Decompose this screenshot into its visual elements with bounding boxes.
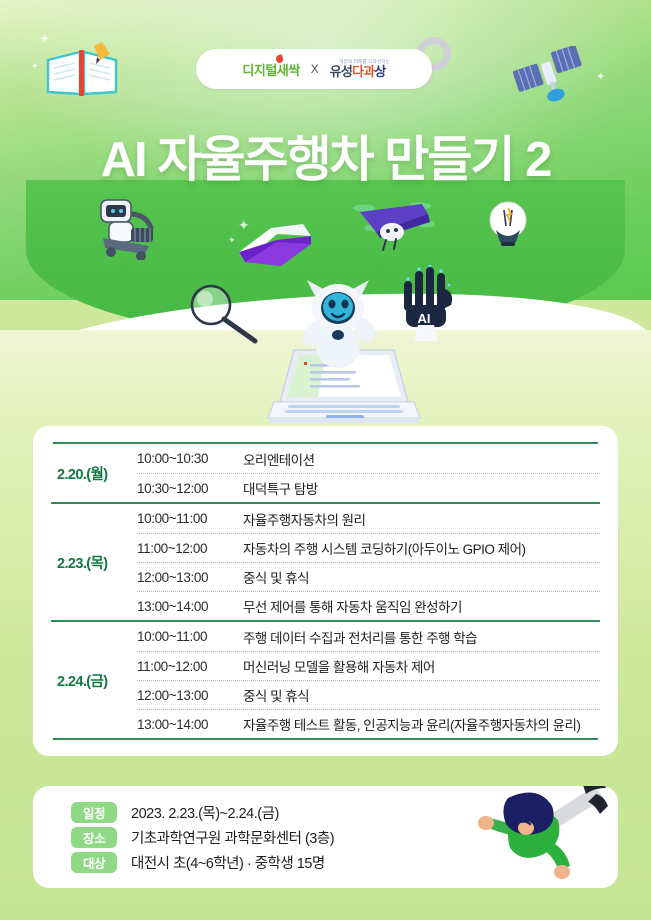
schedule-activity: 주행 데이터 수집과 전처리를 통한 주행 학습 bbox=[243, 627, 477, 647]
ai-hand-icon: AI bbox=[400, 265, 456, 343]
schedule-activity: 머신러닝 모델을 활용해 자동차 제어 bbox=[243, 656, 435, 676]
open-book-icon bbox=[44, 42, 120, 100]
info-value-schedule: 2023. 2.23.(목)~2.24.(금) bbox=[131, 802, 279, 823]
info-badge-location: 장소 bbox=[71, 827, 117, 848]
digital-saessak-logo: 디지털새싹 bbox=[242, 60, 299, 79]
yuseong-dagwasang-logo: 대전의 미래를 디자인하는 유성다과상 bbox=[330, 60, 386, 79]
schedule-time: 11:00~12:00 bbox=[137, 659, 229, 674]
schedule-date-label: 2.23.(목) bbox=[51, 504, 137, 620]
schedule-rows: 10:00~11:00 주행 데이터 수집과 전처리를 통한 주행 학습 11:… bbox=[137, 622, 600, 738]
magnifier-icon bbox=[185, 283, 261, 345]
lightbulb-icon bbox=[486, 200, 530, 256]
yuseong-logo-part2: 다과 bbox=[352, 64, 374, 79]
logo-separator: X bbox=[311, 62, 319, 76]
schedule-row: 12:00~13:00 중식 및 휴식 bbox=[137, 562, 600, 591]
info-badge-target: 대상 bbox=[71, 852, 117, 873]
schedule-time: 10:00~10:30 bbox=[137, 451, 229, 466]
schedule-activity: 자율주행 테스트 활동, 인공지능과 윤리(자율주행자동차의 윤리) bbox=[243, 714, 580, 734]
schedule-activity: 무선 제어를 통해 자동차 움직임 완성하기 bbox=[243, 596, 462, 616]
schedule-time: 13:00~14:00 bbox=[137, 599, 229, 614]
schedule-activity: 자율주행자동차의 원리 bbox=[243, 509, 365, 529]
schedule-activity: 자동차의 주행 시스템 코딩하기(아두이노 GPIO 제어) bbox=[243, 538, 525, 558]
schedule-row: 10:00~11:00 주행 데이터 수집과 전처리를 통한 주행 학습 bbox=[137, 622, 600, 651]
schedule-rows: 10:00~10:30 오리엔테이션 10:30~12:00 대덕특구 탐방 bbox=[137, 444, 600, 502]
schedule-date-label: 2.24.(금) bbox=[51, 622, 137, 738]
sparkle-icon: ✦ bbox=[596, 72, 605, 83]
schedule-row: 10:00~10:30 오리엔테이션 bbox=[137, 444, 600, 473]
info-card: 일정 2023. 2.23.(목)~2.24.(금) 장소 기초과학연구원 과학… bbox=[33, 786, 618, 888]
yuseong-logo-part3: 상 bbox=[374, 64, 385, 79]
sparkle-icon: ✦ bbox=[31, 62, 39, 71]
yuseong-logo-subtitle: 대전의 미래를 디자인하는 bbox=[337, 60, 393, 65]
mascot-robot-icon bbox=[295, 278, 381, 370]
book-icon bbox=[237, 222, 313, 268]
digital-saessak-label: 디지털새싹 bbox=[242, 63, 299, 78]
schedule-rows: 10:00~11:00 자율주행자동차의 원리 11:00~12:00 자동차의… bbox=[137, 504, 600, 620]
schedule-row: 10:30~12:00 대덕특구 탐방 bbox=[137, 473, 600, 502]
schedule-activity: 중식 및 휴식 bbox=[243, 567, 309, 587]
schedule-group: 2.24.(금) 10:00~11:00 주행 데이터 수집과 전처리를 통한 … bbox=[51, 620, 600, 738]
robot-icon bbox=[95, 198, 167, 260]
schedule-row: 12:00~13:00 중식 및 휴식 bbox=[137, 680, 600, 709]
schedule-card: 2.20.(월) 10:00~10:30 오리엔테이션 10:30~12:00 … bbox=[33, 426, 618, 756]
schedule-time: 13:00~14:00 bbox=[137, 717, 229, 732]
schedule-group: 2.23.(목) 10:00~11:00 자율주행자동차의 원리 11:00~1… bbox=[51, 502, 600, 620]
schedule-row: 13:00~14:00 자율주행 테스트 활동, 인공지능과 윤리(자율주행자동… bbox=[137, 709, 600, 738]
schedule-time: 11:00~12:00 bbox=[137, 541, 229, 556]
schedule-group: 2.20.(월) 10:00~10:30 오리엔테이션 10:30~12:00 … bbox=[51, 444, 600, 502]
schedule-activity: 대덕특구 탐방 bbox=[243, 478, 318, 498]
info-badge-schedule: 일정 bbox=[71, 802, 117, 823]
schedule-activity: 오리엔테이션 bbox=[243, 449, 315, 469]
schedule-bottom-rule bbox=[53, 738, 598, 740]
flying-person-icon bbox=[464, 786, 616, 888]
schedule-time: 12:00~13:00 bbox=[137, 570, 229, 585]
poster-root: ✦ ✦ ✦ ✦ ✦ ✦ bbox=[0, 0, 651, 920]
schedule-time: 10:00~11:00 bbox=[137, 511, 229, 526]
schedule-row: 13:00~14:00 무선 제어를 통해 자동차 움직임 완성하기 bbox=[137, 591, 600, 620]
schedule-time: 12:00~13:00 bbox=[137, 688, 229, 703]
svg-text:AI: AI bbox=[418, 311, 431, 326]
schedule-row: 11:00~12:00 자동차의 주행 시스템 코딩하기(아두이노 GPIO 제… bbox=[137, 533, 600, 562]
sparkle-icon: ✦ bbox=[228, 236, 236, 245]
yuseong-logo-part1: 유성 bbox=[330, 64, 352, 79]
schedule-row: 11:00~12:00 머신러닝 모델을 활용해 자동차 제어 bbox=[137, 651, 600, 680]
schedule-time: 10:00~11:00 bbox=[137, 629, 229, 644]
page-title: AI 자율주행차 만들기 2 bbox=[0, 120, 651, 191]
yuseong-logo-main: 유성다과상 bbox=[330, 65, 386, 78]
satellite-icon bbox=[512, 46, 588, 108]
info-value-target: 대전시 초(4~6학년) · 중학생 15명 bbox=[131, 852, 325, 873]
drone-icon bbox=[352, 198, 434, 254]
schedule-activity: 중식 및 휴식 bbox=[243, 685, 309, 705]
partner-logo-bar: 디지털새싹 X 대전의 미래를 디자인하는 유성다과상 bbox=[196, 49, 432, 89]
info-value-location: 기초과학연구원 과학문화센터 (3층) bbox=[131, 827, 334, 848]
schedule-time: 10:30~12:00 bbox=[137, 481, 229, 496]
schedule-row: 10:00~11:00 자율주행자동차의 원리 bbox=[137, 504, 600, 533]
schedule-date-label: 2.20.(월) bbox=[51, 444, 137, 502]
